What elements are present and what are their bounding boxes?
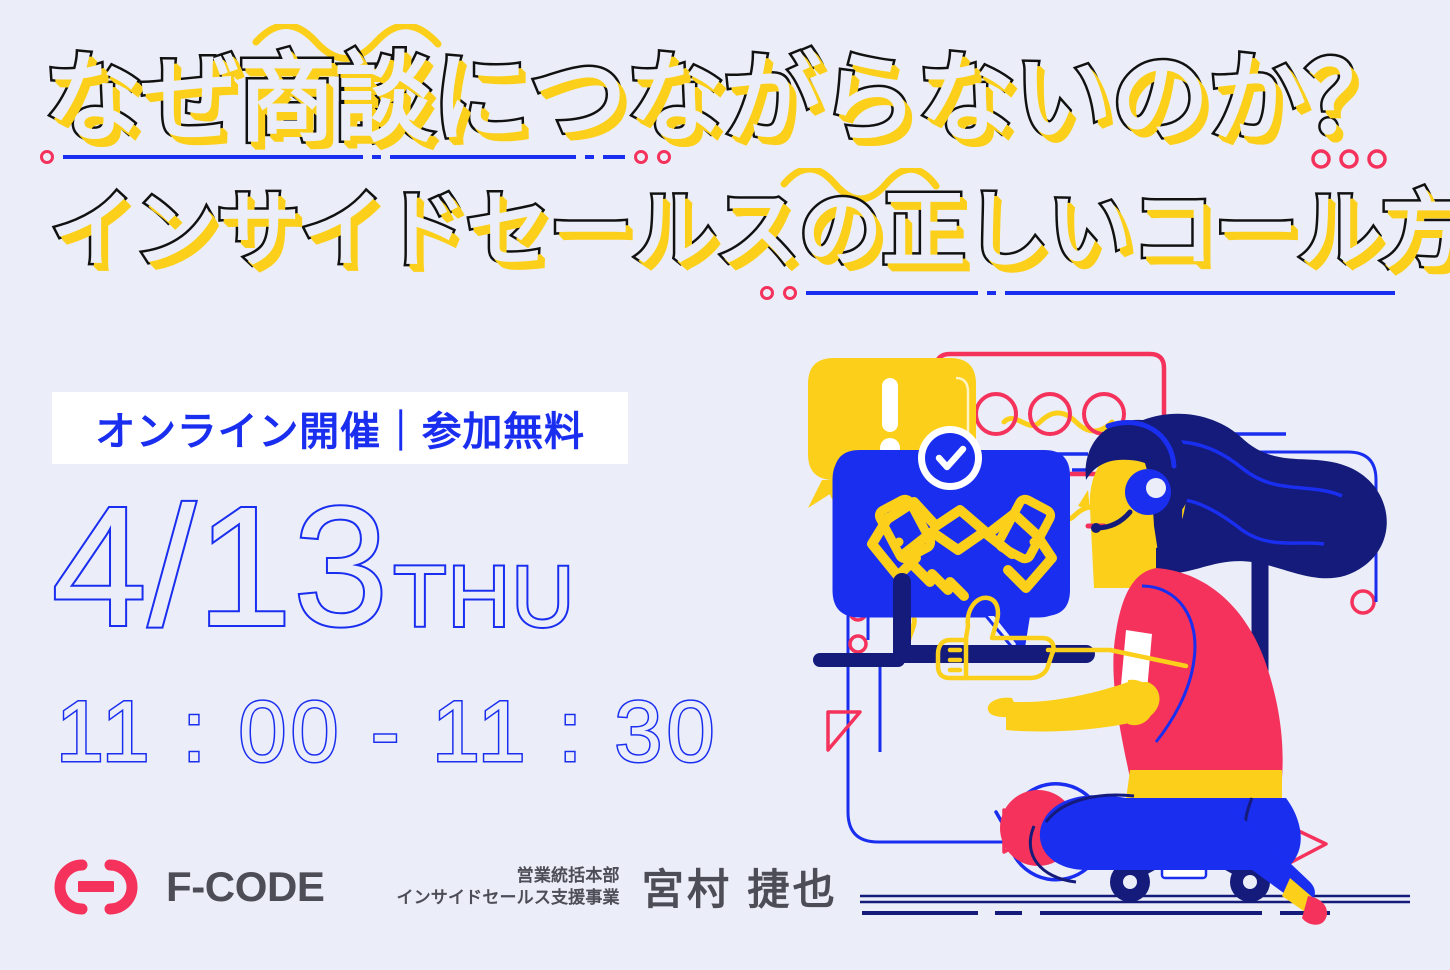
event-day-of-week: THU <box>394 558 576 636</box>
speaker-info: 営業統括本部 インサイドセールス支援事業 宮村 捷也 <box>396 856 838 917</box>
check-badge-icon <box>918 426 982 490</box>
rule-dot <box>372 155 381 159</box>
event-format-badge: オンライン開催｜参加無料 <box>52 392 628 464</box>
title-block: なぜ商談につながらないのか？ インサイドセールスの正しいコール方法 <box>0 0 1450 320</box>
speaker-department: 営業統括本部 インサイドセールス支援事業 <box>396 865 619 908</box>
pink-ring-right <box>1352 591 1374 613</box>
speaker-dept-line-2: インサイドセールス支援事業 <box>396 887 619 908</box>
pink-ring-icon <box>634 150 648 164</box>
title-rule-2 <box>760 286 1395 300</box>
inside-sales-operator-illustration <box>790 330 1450 930</box>
title-rule-1 <box>40 150 671 164</box>
fcode-logo: F-CODE <box>52 859 324 915</box>
rule-segment <box>390 155 576 159</box>
pink-rings-triplet-icon <box>1310 148 1388 170</box>
event-date: 4/13 <box>52 492 390 642</box>
event-time: 11 : 00 ‐ 11 : 30 <box>56 686 719 778</box>
rule-segment <box>63 155 363 159</box>
title-line-2: インサイドセールスの正しいコール方法 <box>50 186 1450 274</box>
rule-dot <box>585 155 594 159</box>
event-format-badge-label: オンライン開催｜参加無料 <box>95 399 585 457</box>
event-date-row: 4/13 THU <box>52 492 576 642</box>
pink-ring-icon <box>783 286 797 300</box>
speaker-dept-line-1: 営業統括本部 <box>517 865 620 886</box>
title-line-1: なぜ商談につながらないのか？ <box>44 48 1402 148</box>
rule-segment <box>1005 291 1395 295</box>
pink-ring-icon <box>760 286 774 300</box>
footer: F-CODE 営業統括本部 インサイドセールス支援事業 宮村 捷也 <box>52 856 838 917</box>
pink-ring-icon <box>40 150 54 164</box>
webinar-banner: なぜ商談につながらないのか？ インサイドセールスの正しいコール方法 <box>0 0 1450 970</box>
rule-segment <box>603 155 625 159</box>
rule-dot <box>987 291 996 295</box>
fcode-wordmark: F-CODE <box>166 863 324 911</box>
pink-triangle-outline-left <box>828 712 860 750</box>
rule-segment <box>806 291 978 295</box>
pink-ring-icon <box>657 150 671 164</box>
chain-link-icon <box>52 859 152 915</box>
